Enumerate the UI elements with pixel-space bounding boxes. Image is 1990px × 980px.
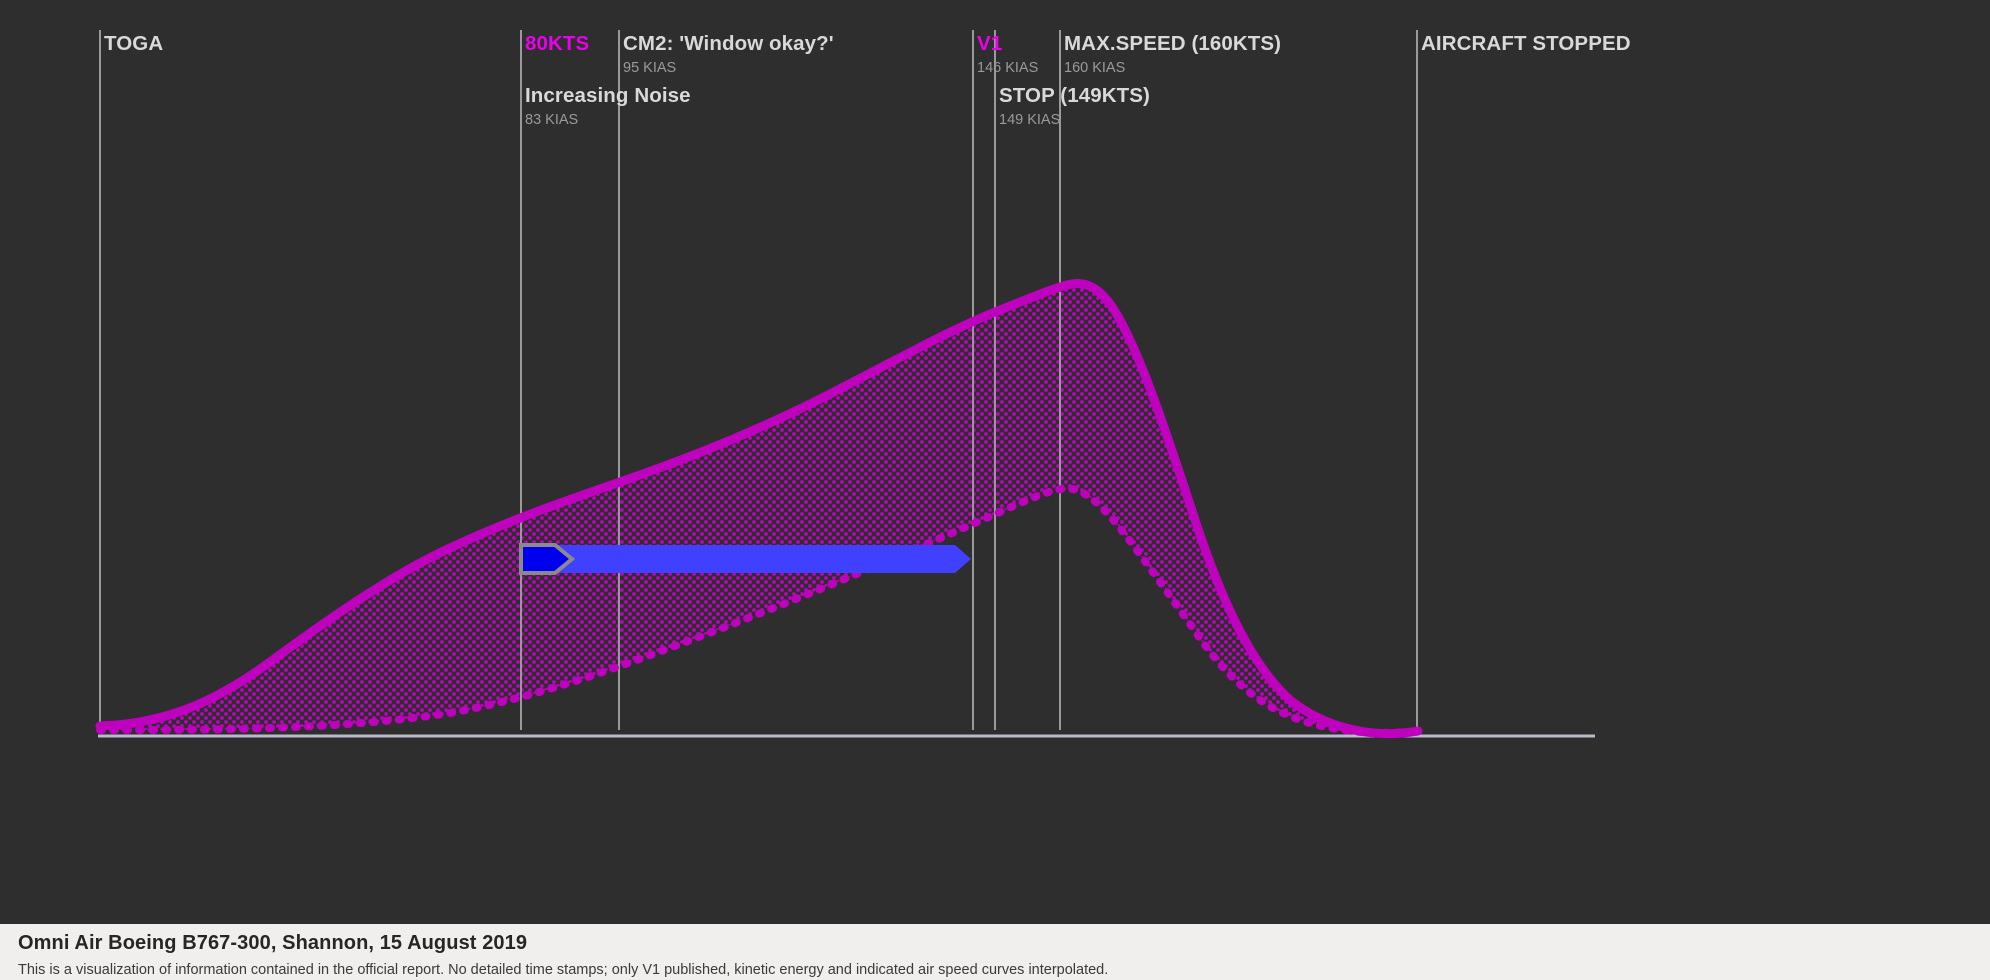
- event-subtitle: 83 KIAS: [525, 113, 691, 128]
- thrust-phase-arrow[interactable]: [521, 545, 971, 573]
- event-title: AIRCRAFT STOPPED: [1421, 34, 1631, 55]
- event-label-cm2-window-okay: CM2: 'Window okay?' 95 KIAS: [623, 34, 834, 75]
- figure-root: TOGA 80KTS Increasing Noise 83 KIAS CM2:…: [0, 0, 1990, 980]
- event-title: TOGA: [104, 34, 163, 55]
- event-label-max-speed: MAX.SPEED (160KTS) 160 KIAS: [1064, 34, 1281, 75]
- event-subtitle: 149 KIAS: [999, 113, 1150, 128]
- thrust-phase-bar[interactable]: [521, 545, 971, 573]
- event-label-aircraft-stopped: AIRCRAFT STOPPED: [1421, 34, 1631, 55]
- event-title: STOP (149KTS): [999, 86, 1150, 107]
- event-subtitle: 160 KIAS: [1064, 61, 1281, 76]
- event-title: Increasing Noise: [525, 86, 691, 107]
- event-title: 80KTS: [525, 34, 589, 55]
- plot-panel: TOGA 80KTS Increasing Noise 83 KIAS CM2:…: [0, 0, 1990, 924]
- event-title: MAX.SPEED (160KTS): [1064, 34, 1281, 55]
- event-label-toga: TOGA: [104, 34, 163, 55]
- event-subtitle: 95 KIAS: [623, 61, 834, 76]
- event-title: V1: [977, 34, 1038, 55]
- event-label-stop: STOP (149KTS) 149 KIAS: [999, 86, 1150, 127]
- event-label-v1: V1 146 KIAS: [977, 34, 1038, 75]
- caption-title: Omni Air Boeing B767-300, Shannon, 15 Au…: [18, 932, 527, 955]
- event-label-increasing-noise: Increasing Noise 83 KIAS: [525, 86, 691, 127]
- event-title: CM2: 'Window okay?': [623, 34, 834, 55]
- event-label-80kts: 80KTS: [525, 34, 589, 55]
- event-subtitle: 146 KIAS: [977, 61, 1038, 76]
- caption-note: This is a visualization of information c…: [18, 962, 1108, 978]
- speed-energy-chart: [0, 0, 1990, 924]
- caption-strip: Omni Air Boeing B767-300, Shannon, 15 Au…: [0, 924, 1990, 980]
